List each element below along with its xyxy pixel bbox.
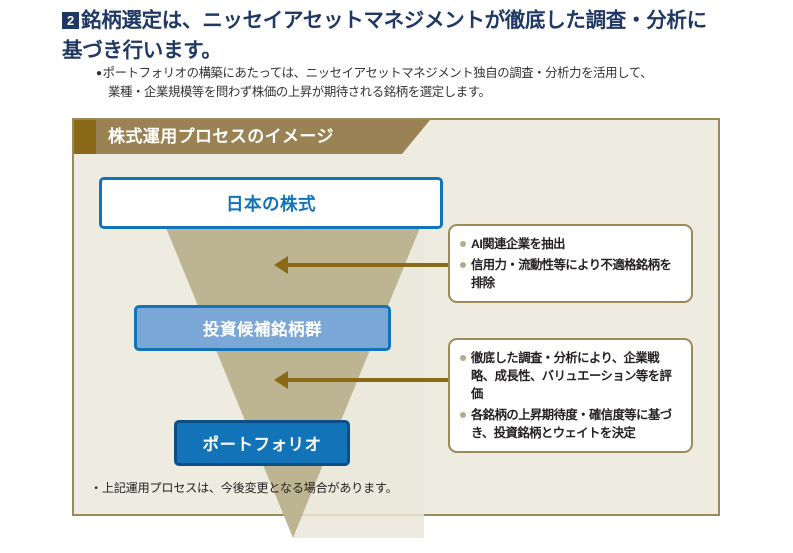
callout-item: 各銘柄の上昇期待度・確信度等に基づき、投資銘柄とウェイトを決定: [460, 406, 681, 442]
callout-item-text: 徹底した調査・分析により、企業戦略、成長性、バリュエーション等を評価: [471, 349, 681, 403]
page-heading: 2銘柄選定は、ニッセイアセットマネジメントが徹底した調査・分析に 基づき行います…: [62, 6, 762, 66]
bullet-dot-icon: [460, 262, 466, 268]
callout-item-text: 各銘柄の上昇期待度・確信度等に基づき、投資銘柄とウェイトを決定: [471, 406, 681, 442]
heading-text-line-1: 銘柄選定は、ニッセイアセットマネジメントが徹底した調査・分析に: [81, 9, 707, 32]
panel-title-bar: 株式運用プロセスのイメージ: [74, 120, 718, 154]
heading-line-1: 2銘柄選定は、ニッセイアセットマネジメントが徹底した調査・分析に: [62, 6, 762, 36]
bullet-marker-icon: ●: [96, 68, 102, 79]
intro-bullet-line-1: ポートフォリオの構築にあたっては、ニッセイアセットマネジメント独自の調査・分析力…: [103, 66, 652, 80]
callout-box-analysis: 徹底した調査・分析により、企業戦略、成長性、バリュエーション等を評価 各銘柄の上…: [448, 338, 693, 453]
callout-box-screening: AI関連企業を抽出 信用力・流動性等により不適格銘柄を排除: [448, 224, 693, 303]
bullet-dot-icon: [460, 412, 466, 418]
callout-item-text: 信用力・流動性等により不適格銘柄を排除: [471, 256, 681, 292]
callout-item: 徹底した調査・分析により、企業戦略、成長性、バリュエーション等を評価: [460, 349, 681, 403]
arrow-screening-2: [286, 378, 452, 382]
stage-box-candidate-universe: 投資候補銘柄群: [134, 305, 391, 351]
callout-item-text: AI関連企業を抽出: [471, 235, 681, 253]
callout-item: 信用力・流動性等により不適格銘柄を排除: [460, 256, 681, 292]
stage-box-japanese-equities: 日本の株式: [99, 177, 443, 229]
stage-box-portfolio: ポートフォリオ: [174, 420, 350, 466]
process-diagram-panel: 株式運用プロセスのイメージ 日本の株式 投資候補銘柄群 ポートフォリオ AI関連…: [72, 118, 720, 516]
callout-item: AI関連企業を抽出: [460, 235, 681, 253]
bullet-dot-icon: [460, 355, 466, 361]
bullet-dot-icon: [460, 241, 466, 247]
section-number-badge: 2: [62, 12, 79, 29]
panel-title-text: 株式運用プロセスのイメージ: [108, 120, 334, 154]
intro-bullet-paragraph: ●ポートフォリオの構築にあたっては、ニッセイアセットマネジメント独自の調査・分析…: [96, 64, 756, 102]
heading-line-2: 基づき行います。: [62, 36, 762, 66]
panel-footnote: ・上記運用プロセスは、今後変更となる場合があります。: [90, 478, 398, 496]
panel-title-tab: [74, 120, 96, 154]
intro-bullet-line-2: 業種・企業規模等を問わず株価の上昇が期待される銘柄を選定します。: [96, 83, 756, 102]
arrow-screening-1: [286, 263, 452, 267]
